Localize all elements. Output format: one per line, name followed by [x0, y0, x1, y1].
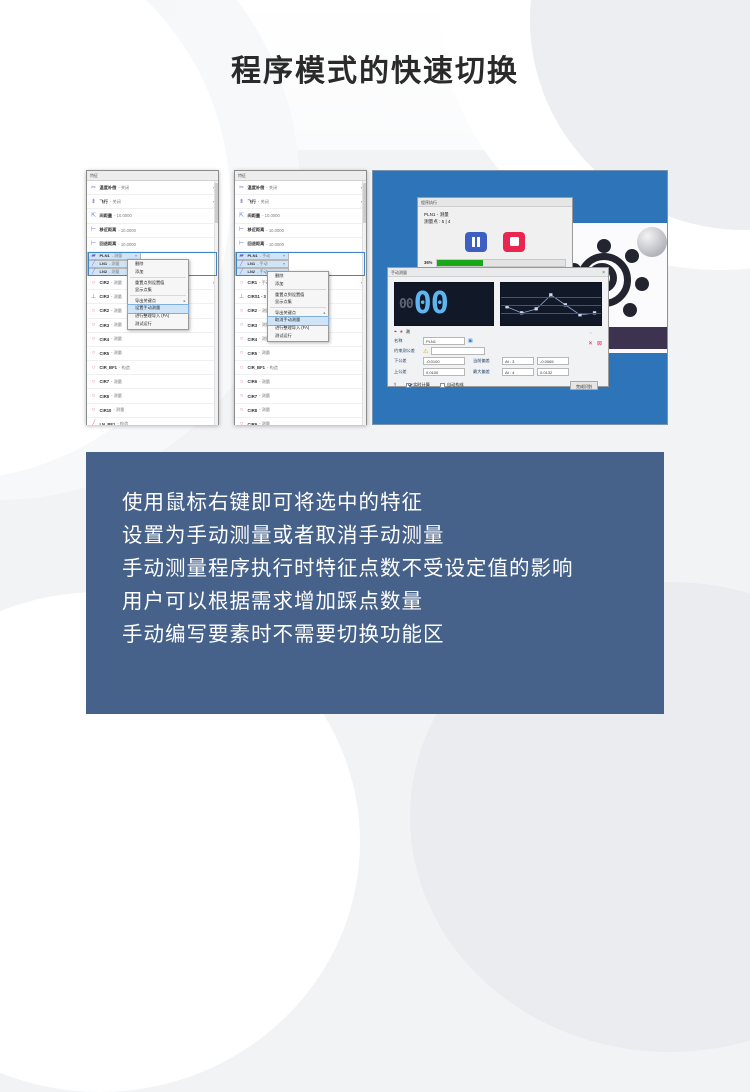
context-menu-item[interactable]: 测试运行: [268, 332, 328, 340]
manual-dialog-footer: ⫯ 实时计算 自动构成 完成识别: [388, 378, 608, 390]
feature-mode: - 关闭: [110, 199, 121, 205]
feature-name: 飞行: [248, 199, 256, 205]
lower-tolerance-input[interactable]: -0.0100: [423, 357, 465, 365]
description-panel: 使用鼠标右键即可将选中的特征 设置为手动测量或者取消手动测量 手动测量程序执行时…: [86, 452, 664, 714]
max-deviation-row: 最大偏差 At : 4 0.0132: [473, 368, 569, 376]
retract-icon: ⊢: [238, 241, 245, 248]
feature-name: CIR5: [100, 351, 110, 356]
context-menu-item[interactable]: 删除: [268, 273, 328, 281]
note-line: 使用鼠标右键即可将选中的特征: [122, 486, 664, 519]
feature-name: CIR7: [100, 379, 110, 384]
manual-dialog-action-icons: ✕ ⊠: [588, 340, 602, 347]
tolerance-label: 约束测公差: [394, 348, 420, 354]
note-line: 设置为手动测量或者取消手动测量: [122, 519, 664, 552]
alignment-icon: ✂: [238, 184, 245, 191]
feature-list-panel-b: 特征 ✂温度补偿- 关闭▾⇟飞行- 关闭▾⇱间距量- 10.0000⊢移近距离-…: [234, 170, 367, 425]
feature-row[interactable]: ⇱间距量- 10.0000: [235, 209, 366, 223]
feature-mode: - 测量: [259, 421, 270, 425]
line-icon: ╱: [238, 260, 245, 267]
feature-mode: - 10.0000: [114, 213, 132, 218]
realtime-calc-checkbox[interactable]: 实时计算: [406, 382, 430, 388]
feature-mode: - 测量: [111, 294, 122, 300]
circle-icon: ○: [238, 350, 245, 357]
feature-mode: - 关闭: [266, 185, 277, 191]
feature-name: 温度补偿: [100, 185, 117, 191]
context-menu-item[interactable]: 重置点到设置值: [268, 291, 328, 299]
circle-icon: ○: [90, 407, 97, 414]
feature-name: CIR2: [100, 308, 110, 313]
plane-icon: ▰: [90, 252, 97, 259]
context-menu-item[interactable]: 取消手动测量: [268, 317, 328, 325]
sphere-decoration: [637, 227, 667, 257]
feature-name: LN2: [100, 268, 108, 276]
finish-button[interactable]: 完成识别: [570, 381, 598, 390]
circle-icon: ○: [238, 279, 245, 286]
submenu-arrow-icon: ▸: [184, 299, 186, 303]
readout-primary-value: 00: [414, 289, 448, 319]
feature-mode: - 测量: [259, 407, 270, 413]
panel-b-scrollbar[interactable]: [362, 181, 366, 425]
feature-name: CIR3: [248, 323, 258, 328]
realtime-calc-label: 实时计算: [413, 382, 430, 388]
feature-mode: - 构造: [267, 365, 278, 371]
feature-mode: - 10.0000: [266, 242, 284, 247]
plane-icon: ▰: [238, 252, 245, 259]
feature-mode: - 测量: [111, 350, 122, 356]
feature-name: CIR8: [248, 408, 258, 413]
circle-icon: ○: [90, 378, 97, 385]
feature-row[interactable]: ○CIR8- 测量: [235, 404, 366, 418]
feature-mode: - 构造: [119, 365, 130, 371]
feature-name: LN_BF1: [100, 422, 116, 425]
menu-separator: [270, 289, 326, 290]
context-menu-item[interactable]: 导出关键点▸: [268, 309, 328, 317]
context-menu-item[interactable]: 设置手动测量: [128, 305, 188, 313]
feature-name: 回退距离: [248, 241, 265, 247]
context-menu-item[interactable]: 删除: [128, 261, 188, 269]
circle-icon: ○: [238, 307, 245, 314]
circle-icon: ○: [238, 378, 245, 385]
menu-separator: [270, 307, 326, 308]
feature-mode: - 测量: [111, 393, 122, 399]
feature-row[interactable]: ⇱间距量- 10.0000: [87, 209, 218, 223]
feature-row-chevron[interactable]: ▾: [283, 260, 285, 268]
feature-row[interactable]: ○CIR7- 测量: [235, 389, 366, 403]
tolerance-select[interactable]: [431, 347, 485, 355]
feature-row[interactable]: ○CIR5- 测量: [87, 347, 218, 361]
feature-row[interactable]: ⇟飞行- 关闭▾: [235, 195, 366, 209]
current-deviation-label: 当前偏差: [473, 358, 499, 364]
circle-icon: ○: [238, 421, 245, 425]
progress-bar-fill: [437, 260, 483, 266]
alignment-icon: ✂: [90, 184, 97, 191]
upper-tolerance-input[interactable]: 0.0100: [423, 368, 465, 376]
pause-button[interactable]: [465, 232, 487, 252]
feature-name: CIR8: [100, 394, 110, 399]
feature-row[interactable]: ✂温度补偿- 关闭▾: [235, 181, 366, 195]
feature-name: CIR3: [100, 323, 110, 328]
tolerance-grid: 下公差 -0.0100 上公差 0.0100 当前偏差 At : 3 -0.00…: [394, 357, 602, 377]
feature-name: PLN1: [248, 252, 258, 260]
probe-icon: ⇟: [90, 198, 97, 205]
context-menu-item[interactable]: 进行整理导入 (FA): [128, 313, 188, 321]
axis-icon: ⊥: [90, 293, 97, 300]
cylinder-icon: ╱: [90, 421, 97, 425]
max-deviation-label: 最大偏差: [473, 369, 499, 375]
circle-icon: ○: [90, 322, 97, 329]
panel-b-scrollbar-thumb[interactable]: [363, 183, 366, 223]
circle-icon: ○: [238, 407, 245, 414]
bolt-icon: [597, 239, 611, 253]
feature-name: 移近距离: [100, 227, 117, 233]
feature-row[interactable]: ⊢回退距离- 10.0000: [87, 238, 218, 252]
measurement-app-window: 程序执行 PLN1 - 测量 测量点 : 5 | 4 36% 手动测量 ×: [372, 170, 668, 425]
feature-name: LN1: [100, 260, 108, 268]
auto-construct-checkbox[interactable]: 自动构成: [440, 382, 464, 388]
feature-row[interactable]: ⊢移近距离- 10.0000: [87, 224, 218, 238]
stop-button[interactable]: [503, 232, 525, 252]
menu-separator: [130, 277, 186, 278]
feature-mode: - 测量: [109, 260, 119, 268]
feature-row[interactable]: ○CIR8- 测量: [87, 389, 218, 403]
page-title: 程序模式的快速切换: [0, 46, 750, 90]
upper-tolerance-row: 上公差 0.0100: [394, 368, 465, 376]
feature-mode: - 10.0000: [262, 213, 280, 218]
feature-name: CIR7: [248, 394, 258, 399]
distance-icon: ⇱: [238, 212, 245, 219]
context-menu-item[interactable]: 添加: [268, 281, 328, 289]
feature-row[interactable]: ○CIR5- 测量: [235, 347, 366, 361]
feature-name: 间距量: [248, 213, 261, 219]
feature-name: CIR3: [100, 294, 110, 299]
feature-row[interactable]: ○CIR7- 测量: [87, 375, 218, 389]
feature-name: CIR2: [248, 308, 258, 313]
circle-icon: ○: [90, 307, 97, 314]
auto-construct-label: 自动构成: [447, 382, 464, 388]
warning-icon: ⚠: [423, 348, 428, 355]
name-input[interactable]: PLN1: [423, 337, 465, 345]
feature-row[interactable]: ○CIR4- 测量: [87, 333, 218, 347]
feature-row[interactable]: ⊢移近距离- 10.0000: [235, 224, 366, 238]
feature-list-panel-a: 特征 ✂温度补偿- 关闭▾⇟飞行- 关闭▾⇱间距量- 10.0000⊢移近距离-…: [86, 170, 219, 425]
circle-icon: ○: [238, 322, 245, 329]
feature-mode: - 测量: [259, 393, 270, 399]
note-line: 手动测量程序执行时特征点数不受设定值的影响: [122, 552, 664, 585]
circle-icon: ○: [238, 364, 245, 371]
line-icon: ╱: [90, 268, 97, 275]
feature-row[interactable]: ✂温度补偿- 关闭▾: [87, 181, 218, 195]
max-deviation-value: 0.0132: [537, 368, 569, 376]
chart-gridline: [501, 313, 601, 314]
context-menu-item[interactable]: 测试运行: [128, 320, 188, 328]
feature-name: CIR6: [248, 379, 258, 384]
line-icon: ╱: [238, 268, 245, 275]
panel-a-scrollbar[interactable]: [214, 181, 218, 425]
name-field-row: 名称 PLN1 ▣: [394, 337, 602, 345]
circle-icon: ○: [90, 350, 97, 357]
chart-gridline: [501, 297, 601, 298]
feature-row[interactable]: ○CIR10- 测量: [87, 404, 218, 418]
probe-icon: ⇟: [238, 198, 245, 205]
feature-row[interactable]: ○CIR_BF1- 构造: [235, 361, 366, 375]
context-menu-item[interactable]: 重置点到设置值: [128, 279, 188, 287]
progress-bar: [436, 259, 566, 267]
refresh-icon[interactable]: ◌: [590, 330, 592, 335]
manual-dialog-readout-row: 00 00: [388, 277, 608, 326]
feature-mode: - 测量: [111, 379, 122, 385]
upper-tolerance-label: 上公差: [394, 369, 420, 375]
lower-tolerance-label: 下公差: [394, 358, 420, 364]
feature-name: CIR5: [248, 351, 258, 356]
context-menu-item[interactable]: 显示点集: [128, 287, 188, 295]
feature-mode: - 测量: [111, 336, 122, 342]
feature-mode: - 10.0000: [266, 228, 284, 233]
note-line: 手动编写要素时不需要切换功能区: [122, 618, 664, 651]
feature-mode: - 手动: [257, 260, 267, 268]
circle-icon: ○: [90, 279, 97, 286]
menu-separator: [130, 295, 186, 296]
name-label: 名称: [394, 338, 420, 344]
run-dialog-points: 测量点 : 5 | 4: [424, 219, 572, 226]
feature-mode: - 关闭: [258, 199, 269, 205]
feature-name: 移近距离: [248, 227, 265, 233]
screenshot-stage: 特征 ✂温度补偿- 关闭▾⇟飞行- 关闭▾⇱间距量- 10.0000⊢移近距离-…: [0, 165, 750, 435]
panel-b-titlebar: 特征: [235, 171, 366, 181]
axis-icon: ⊥: [238, 293, 245, 300]
context-menu-item[interactable]: 添加: [128, 269, 188, 277]
run-dialog-titlebar: 程序执行: [418, 198, 572, 207]
manual-dialog-title: 手动测量: [391, 270, 407, 275]
record-icon[interactable]: ●: [400, 329, 403, 335]
bolt-icon: [623, 303, 637, 317]
feature-name: 飞行: [100, 199, 108, 205]
run-dialog-info: PLN1 - 测量 测量点 : 5 | 4: [418, 207, 572, 226]
feature-mode: - 10.0000: [118, 228, 136, 233]
feature-mode: - 测量: [259, 350, 270, 356]
circle-icon: ○: [90, 364, 97, 371]
feature-name: 间距量: [100, 213, 113, 219]
feature-row[interactable]: ╱LN_BF1- 构造: [87, 418, 218, 425]
panel-b-context-menu[interactable]: 删除添加重置点到设置值显示点集导出关键点▸取消手动测量进行整理导入 (FA)测试…: [267, 271, 329, 342]
context-menu-item[interactable]: 显示点集: [268, 299, 328, 307]
pick-icon[interactable]: ▣: [468, 338, 473, 344]
panel-a-context-menu[interactable]: 删除添加重置点到设置值显示点集导出关键点▸设置手动测量进行整理导入 (FA)测试…: [127, 259, 189, 330]
feature-mode: - 测量: [111, 280, 122, 286]
submenu-arrow-icon: ▸: [324, 311, 326, 315]
run-dialog-feature: PLN1 - 测量: [424, 212, 572, 219]
feature-name: CIR1: [248, 280, 258, 285]
feature-mode: - 关闭: [118, 185, 129, 191]
approach-icon: ⊢: [90, 227, 97, 234]
feature-name: CIR4: [248, 337, 258, 342]
feature-name: PLN1: [100, 252, 110, 260]
manual-dialog-toolbar: ⌖ ● 测 ◌: [388, 326, 608, 335]
manual-dialog-form: 名称 PLN1 ▣ 约束测公差 ⚠ 下公差 -0.0100: [388, 335, 608, 378]
digital-readout: 00 00: [394, 282, 494, 326]
feature-mode: - 测量: [113, 407, 124, 413]
feature-name: LN2: [248, 268, 256, 276]
panel-a-scrollbar-thumb[interactable]: [215, 183, 218, 223]
feature-row-chevron[interactable]: ▾: [283, 252, 285, 260]
feature-mode: - 测量: [112, 252, 122, 260]
feature-mode: - 测量: [111, 308, 122, 314]
manual-dialog-titlebar: 手动测量 ×: [388, 268, 608, 277]
feature-name: 回退距离: [100, 241, 117, 247]
feature-row[interactable]: ╱LN1- 手动▾: [235, 260, 289, 268]
feature-row[interactable]: ⇟飞行- 关闭▾: [87, 195, 218, 209]
feature-name: CIR_BF1: [100, 365, 117, 370]
lower-tolerance-row: 下公差 -0.0100: [394, 357, 465, 365]
circle-icon: ○: [90, 393, 97, 400]
feature-mode: - 测量: [259, 379, 270, 385]
probe-icon[interactable]: ⌖: [394, 329, 397, 335]
current-deviation-value: -0.0065: [537, 357, 569, 365]
feature-name: CIR9: [248, 422, 258, 425]
feature-row[interactable]: ○CIR9- 测量: [235, 418, 366, 425]
feature-name: CIR10: [100, 408, 112, 413]
feature-mode: - 构造: [117, 421, 128, 425]
run-dialog-progress-row: 36%: [424, 259, 566, 267]
feature-mode: - 测量: [109, 268, 119, 276]
current-deviation-ref: At : 3: [502, 357, 534, 365]
circle-icon: ○: [90, 336, 97, 343]
clear-all-icon[interactable]: ⊠: [597, 340, 602, 347]
tolerance-field-row: 约束测公差 ⚠: [394, 347, 602, 355]
panel-a-titlebar: 特征: [87, 171, 218, 181]
feature-name: CIR4: [100, 337, 110, 342]
feature-row[interactable]: ▰PLN1- 手动▾: [235, 252, 289, 260]
delete-point-icon[interactable]: ✕: [588, 340, 593, 347]
feature-row[interactable]: ○CIR_BF1- 构造: [87, 361, 218, 375]
feature-name: CIR2: [100, 280, 110, 285]
circle-icon: ○: [238, 393, 245, 400]
circle-icon: ○: [238, 336, 245, 343]
calc-icon[interactable]: ⫯: [394, 382, 396, 388]
feature-name: 温度补偿: [248, 185, 265, 191]
feature-mode: - 手动: [260, 252, 270, 260]
progress-percent-label: 36%: [424, 260, 432, 265]
deviation-chart: [500, 282, 602, 326]
bolt-icon: [625, 249, 639, 263]
bolt-icon: [635, 277, 649, 291]
note-line: 用户可以根据需求增加踩点数量: [122, 585, 664, 618]
manual-measure-dialog: 手动测量 × 00 00: [387, 267, 609, 387]
feature-name: LN1: [248, 260, 256, 268]
feature-row[interactable]: ○CIR6- 测量: [235, 375, 366, 389]
approach-icon: ⊢: [238, 227, 245, 234]
feature-row[interactable]: ⊢回退距离- 10.0000: [235, 238, 366, 252]
feature-mode: - 10.0000: [118, 242, 136, 247]
retract-icon: ⊢: [90, 241, 97, 248]
feature-mode: - 测量: [111, 322, 122, 328]
context-menu-item[interactable]: 导出关键点▸: [128, 297, 188, 305]
readout-secondary-value: 00: [399, 298, 413, 311]
context-menu-item[interactable]: 进行整理导入 (FA): [268, 325, 328, 333]
current-deviation-row: 当前偏差 At : 3 -0.0065: [473, 357, 569, 365]
feature-name: CIR_BF1: [248, 365, 265, 370]
close-icon[interactable]: ×: [602, 269, 605, 278]
chart-gridline: [501, 305, 601, 306]
line-icon: ╱: [90, 260, 97, 267]
run-dialog-buttons: [418, 232, 572, 252]
max-deviation-ref: At : 4: [502, 368, 534, 376]
manual-toolbar-label: 测: [406, 329, 410, 335]
distance-icon: ⇱: [90, 212, 97, 219]
feature-mode: - 手动: [257, 268, 267, 276]
